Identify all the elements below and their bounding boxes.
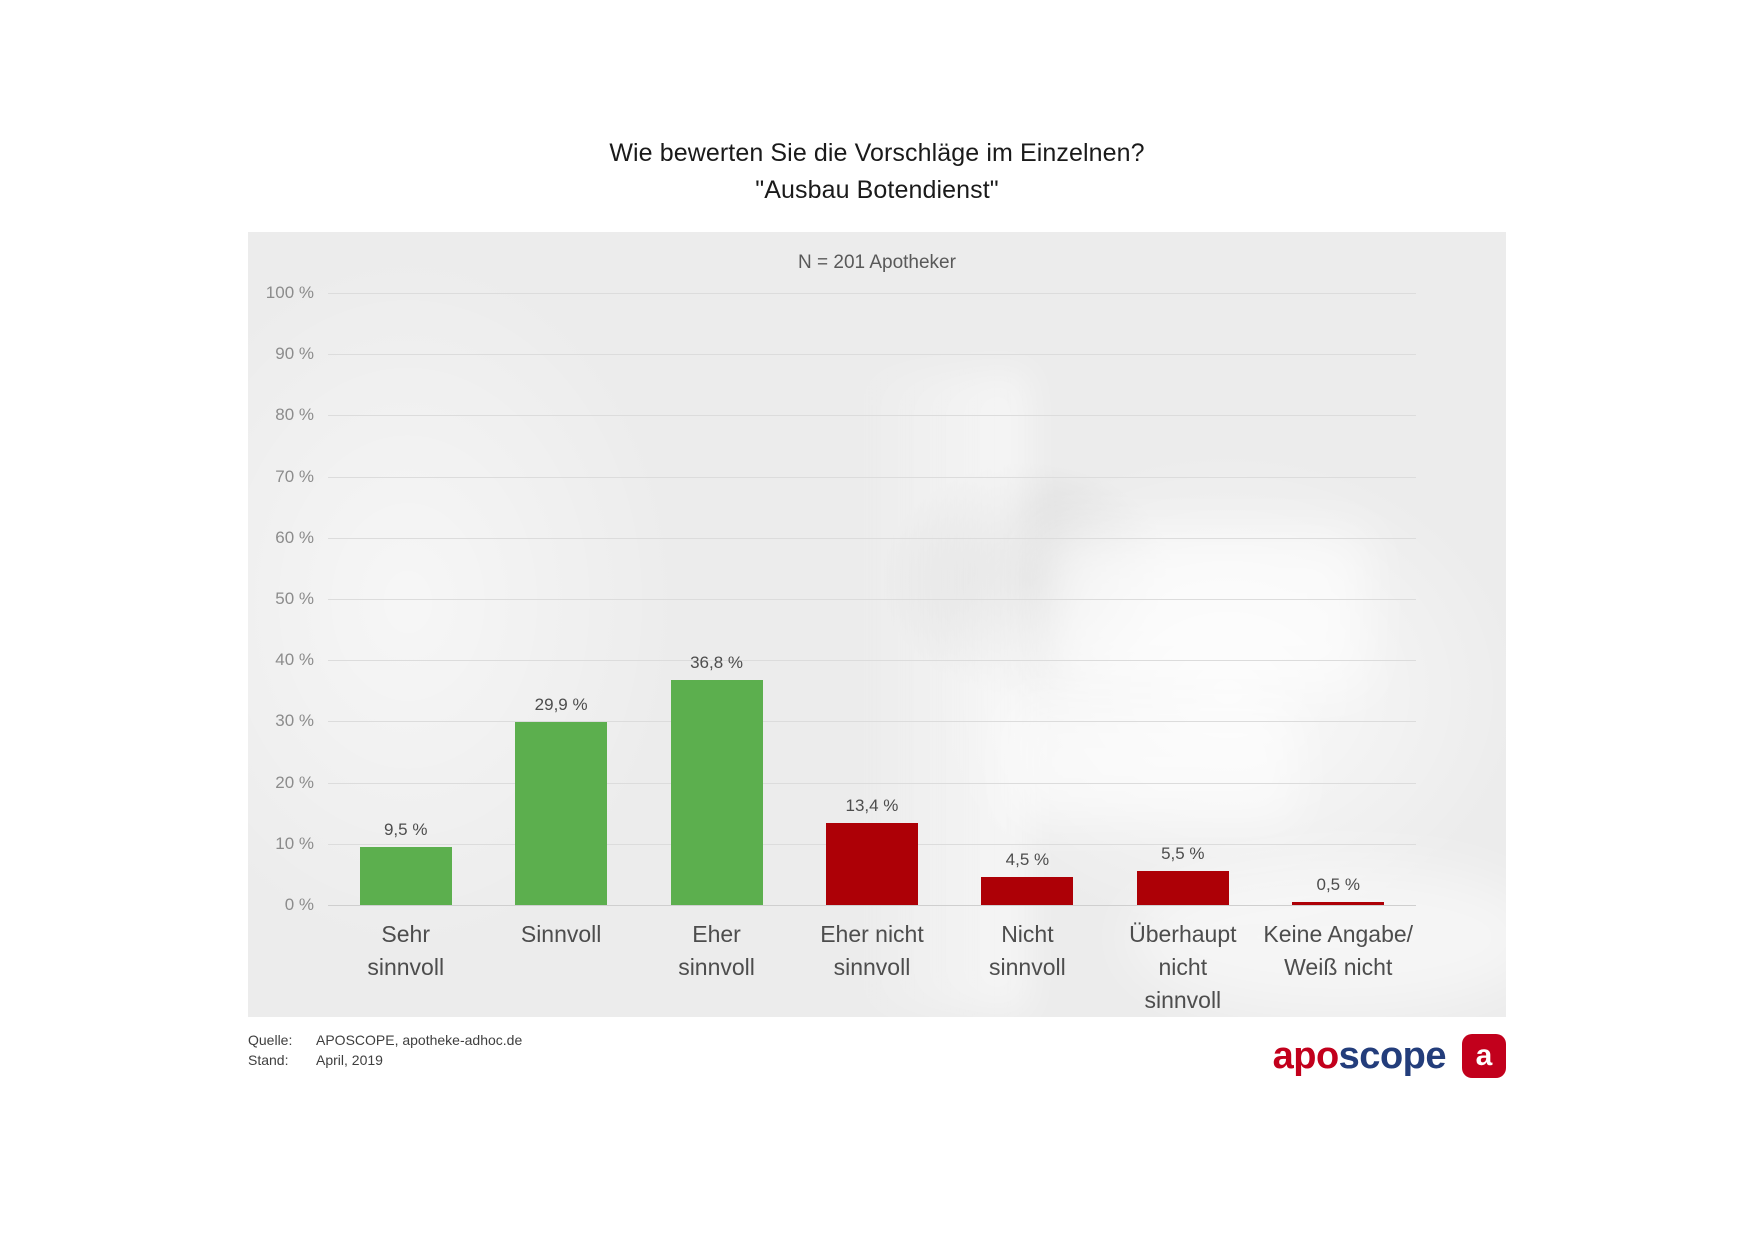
source-label: Quelle: (248, 1032, 292, 1048)
y-axis-tick-label: 90 % (275, 344, 314, 364)
bar[interactable]: 9,5 % (360, 847, 452, 905)
category-axis-labels: SehrsinnvollSinnvollEhersinnvollEher nic… (328, 918, 1416, 1017)
bar-value-label: 0,5 % (1316, 875, 1359, 895)
chart-title-line-1: Wie bewerten Sie die Vorschläge im Einze… (0, 135, 1754, 172)
category-label-line: sinnvoll (1107, 984, 1258, 1017)
category-label-line: Sinnvoll (485, 918, 636, 951)
bar-slot[interactable]: 36,8 % (639, 293, 794, 905)
bar-value-label: 5,5 % (1161, 844, 1204, 864)
bar[interactable]: 29,9 % (515, 722, 607, 905)
chart-title-line-2: "Ausbau Botendienst" (0, 172, 1754, 209)
source-value: APOSCOPE, apotheke-adhoc.de (316, 1032, 522, 1048)
category-label-line: Eher nicht (796, 918, 947, 951)
category-label: Ehersinnvoll (639, 918, 794, 1017)
category-label-line: Sehr (330, 918, 481, 951)
date-value: April, 2019 (316, 1052, 383, 1068)
category-label-line: Nicht (952, 918, 1103, 951)
category-label-line: Eher (641, 918, 792, 951)
bar[interactable]: 0,5 % (1292, 902, 1384, 905)
bar[interactable]: 5,5 % (1137, 871, 1229, 905)
sample-size-label: N = 201 Apotheker (248, 252, 1506, 274)
chart-title-block: Wie bewerten Sie die Vorschläge im Einze… (0, 135, 1754, 209)
aposcope-badge-icon: a (1462, 1034, 1506, 1078)
date-label: Stand: (248, 1052, 288, 1068)
category-label: Sinnvoll (483, 918, 638, 1017)
aposcope-logo: aposcope a (1273, 1034, 1506, 1078)
y-axis-tick-label: 60 % (275, 528, 314, 548)
bar-slot[interactable]: 29,9 % (483, 293, 638, 905)
logo-word-part-2: scope (1339, 1035, 1446, 1077)
category-label: Eher nichtsinnvoll (794, 918, 949, 1017)
y-axis-tick-label: 50 % (275, 589, 314, 609)
category-label-line: sinnvoll (641, 951, 792, 984)
category-label: Überhauptnichtsinnvoll (1105, 918, 1260, 1017)
bar-value-label: 9,5 % (384, 820, 427, 840)
bar-slot[interactable]: 13,4 % (794, 293, 949, 905)
aposcope-wordmark: aposcope (1273, 1037, 1446, 1075)
bar-slot[interactable]: 9,5 % (328, 293, 483, 905)
category-label-line: Keine Angabe/ (1263, 918, 1414, 951)
bar-value-label: 29,9 % (535, 695, 588, 715)
bar-value-label: 36,8 % (690, 653, 743, 673)
gridline (328, 905, 1416, 906)
category-label-line: sinnvoll (952, 951, 1103, 984)
bar-slot[interactable]: 5,5 % (1105, 293, 1260, 905)
category-label-line: sinnvoll (330, 951, 481, 984)
y-axis-tick-label: 30 % (275, 711, 314, 731)
bar[interactable]: 36,8 % (671, 680, 763, 905)
category-label: Sehrsinnvoll (328, 918, 483, 1017)
category-label-line: sinnvoll (796, 951, 947, 984)
chart-plot-panel: N = 201 Apotheker 100 %90 %80 %70 %60 %5… (248, 232, 1506, 1017)
bar-value-label: 4,5 % (1006, 850, 1049, 870)
bar-series: 9,5 %29,9 %36,8 %13,4 %4,5 %5,5 %0,5 % (328, 293, 1416, 905)
y-axis-tick-label: 100 % (266, 283, 314, 303)
logo-word-part-1: apo (1273, 1035, 1339, 1077)
bar[interactable]: 13,4 % (826, 823, 918, 905)
category-label-line: Überhaupt (1107, 918, 1258, 951)
y-axis-tick-label: 70 % (275, 467, 314, 487)
bar-slot[interactable]: 0,5 % (1261, 293, 1416, 905)
chart-footer: Quelle: APOSCOPE, apotheke-adhoc.de Stan… (248, 1032, 1506, 1102)
y-axis-tick-label: 10 % (275, 834, 314, 854)
y-axis-tick-label: 0 % (285, 895, 314, 915)
category-label-line: nicht (1107, 951, 1258, 984)
y-axis-tick-label: 20 % (275, 773, 314, 793)
category-label: Nichtsinnvoll (950, 918, 1105, 1017)
category-label-line: Weiß nicht (1263, 951, 1414, 984)
bar-value-label: 13,4 % (846, 796, 899, 816)
chart-page: Wie bewerten Sie die Vorschläge im Einze… (0, 0, 1754, 1239)
bar[interactable]: 4,5 % (981, 877, 1073, 905)
y-axis-tick-label: 40 % (275, 650, 314, 670)
category-label: Keine Angabe/Weiß nicht (1261, 918, 1416, 1017)
bar-slot[interactable]: 4,5 % (950, 293, 1105, 905)
y-axis-tick-label: 80 % (275, 405, 314, 425)
